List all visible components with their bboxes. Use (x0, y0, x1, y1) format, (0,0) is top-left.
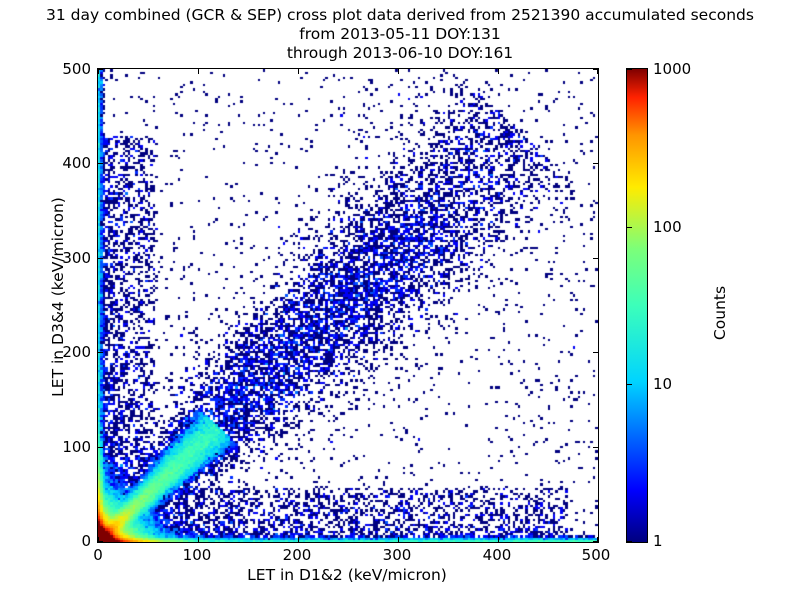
plot-area (97, 68, 599, 543)
plot-title-line-1: 31 day combined (GCR & SEP) cross plot d… (0, 6, 800, 25)
y-axis-tick-300 (98, 258, 103, 259)
colorbar-tick-label-100: 100 (653, 218, 682, 236)
x-axis-tick-200 (298, 537, 299, 542)
x-axis-tick-label-400: 400 (483, 546, 512, 564)
x-axis-top-tick-300 (398, 69, 399, 74)
colorbar-label: Counts (711, 233, 729, 393)
x-axis-tick-400 (498, 537, 499, 542)
y-axis-label: LET in D3&4 (keV/micron) (49, 127, 67, 467)
y-axis-right-tick-100 (593, 447, 598, 448)
colorbar-tick-100 (627, 227, 632, 228)
y-axis-tick-500 (98, 69, 103, 70)
x-axis-top-tick-200 (298, 69, 299, 74)
y-axis-tick-0 (98, 541, 103, 542)
colorbar-tick-label-1: 1 (653, 532, 663, 550)
x-axis-tick-label-0: 0 (93, 546, 103, 564)
colorbar-tick-label-1000: 1000 (653, 60, 691, 78)
x-axis-tick-label-500: 500 (582, 546, 611, 564)
colorbar-tick-1 (627, 541, 632, 542)
y-axis-right-tick-300 (593, 258, 598, 259)
figure-canvas: 31 day combined (GCR & SEP) cross plot d… (0, 0, 800, 600)
colorbar (626, 68, 648, 543)
y-axis-tick-100 (98, 447, 103, 448)
y-axis-right-tick-200 (593, 352, 598, 353)
x-axis-label: LET in D1&2 (keV/micron) (97, 566, 597, 584)
x-axis-top-tick-400 (498, 69, 499, 74)
colorbar-tick-1000 (627, 69, 632, 70)
plot-title: 31 day combined (GCR & SEP) cross plot d… (0, 6, 800, 63)
x-axis-top-tick-100 (198, 69, 199, 74)
y-axis-right-tick-500 (593, 69, 598, 70)
x-axis-tick-300 (398, 537, 399, 542)
x-axis-tick-label-200: 200 (283, 546, 312, 564)
plot-title-line-2: from 2013-05-11 DOY:131 (0, 25, 800, 44)
y-axis-tick-label-0: 0 (81, 532, 91, 550)
y-axis-right-tick-400 (593, 163, 598, 164)
x-axis-tick-label-100: 100 (183, 546, 212, 564)
colorbar-gradient (627, 69, 647, 542)
y-axis-tick-400 (98, 163, 103, 164)
y-axis-right-tick-0 (593, 541, 598, 542)
density-scatter-plot (98, 69, 598, 542)
y-axis-tick-200 (98, 352, 103, 353)
colorbar-tick-label-10: 10 (653, 375, 672, 393)
x-axis-tick-label-300: 300 (383, 546, 412, 564)
y-axis-tick-label-500: 500 (62, 60, 91, 78)
colorbar-tick-10 (627, 384, 632, 385)
x-axis-tick-100 (198, 537, 199, 542)
